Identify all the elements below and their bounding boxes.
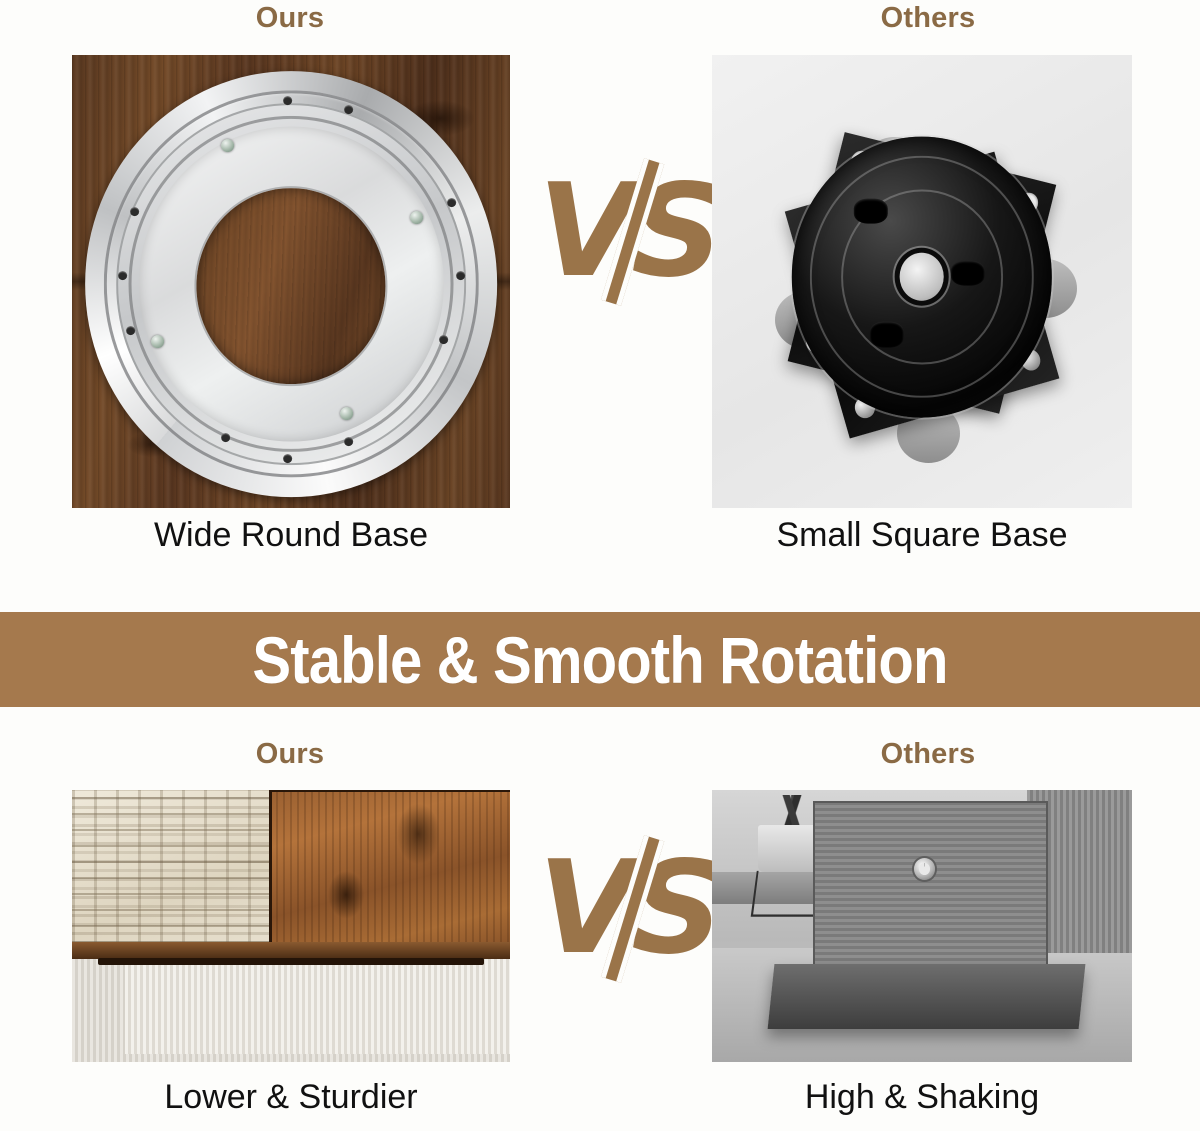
comparison-infographic: Ours Others VS [0, 0, 1200, 1131]
caption-small-square-base: Small Square Base [712, 516, 1132, 555]
banner-title: Stable & Smooth Rotation [252, 622, 947, 698]
drum-center-hub [900, 253, 944, 301]
cabinet-floor-gap [98, 958, 483, 965]
grey-tall-plinth-base [767, 964, 1085, 1029]
bearing-rivet [221, 433, 230, 442]
cabinet-low-plinth [72, 942, 510, 959]
row2-others-header: Others [828, 738, 1028, 771]
bearing-rivet [456, 271, 465, 280]
caption-lower-sturdier: Lower & Sturdier [72, 1078, 510, 1117]
feature-banner: Stable & Smooth Rotation [0, 612, 1200, 707]
bearing-rivet [118, 271, 127, 280]
rustic-cabinet [72, 790, 510, 959]
bearing-center-opening [196, 188, 385, 384]
row1-others-header: Others [828, 2, 1028, 35]
grey-drawer-knob [914, 858, 935, 880]
drum-slot [951, 260, 985, 285]
swivel-drum [792, 137, 1052, 418]
bearing-screw [410, 211, 423, 224]
caption-wide-round-base: Wide Round Base [72, 516, 510, 555]
bearing-rivet [283, 454, 292, 463]
photo-small-square-base [712, 55, 1132, 508]
photo-high-shaking [712, 790, 1132, 1062]
bearing-rivet [439, 335, 448, 344]
drum-slot [870, 322, 904, 347]
photo-wide-round-base [72, 55, 510, 508]
bearing-screw [151, 335, 164, 348]
vs-badge-row1: VS [538, 168, 717, 296]
rustic-wood-door [269, 790, 510, 959]
caption-high-shaking: High & Shaking [712, 1078, 1132, 1117]
grey-cabinet-drawer [813, 801, 1048, 970]
greyscale-room [712, 790, 1132, 1062]
vs-badge-row2: VS [538, 845, 717, 973]
drum-slot [854, 198, 888, 223]
bearing-screw [221, 139, 234, 152]
bearing-rivet [283, 96, 292, 105]
grey-plant-pot [758, 825, 817, 871]
bearing-ring-outer [85, 71, 497, 497]
row2-ours-header: Ours [190, 738, 390, 771]
floor-rug-front [125, 956, 510, 1054]
photo-lower-sturdier [72, 790, 510, 1062]
rattan-basket-panel [72, 790, 269, 959]
row1-ours-header: Ours [190, 2, 390, 35]
bearing-rivet [447, 199, 456, 208]
